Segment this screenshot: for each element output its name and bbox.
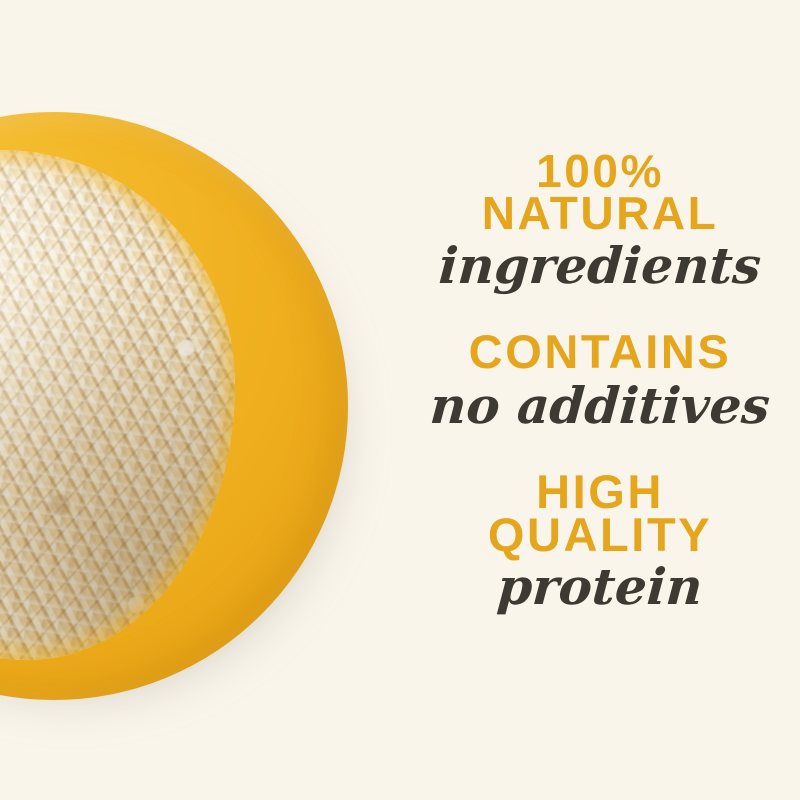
shredded-chicken-pile <box>0 150 235 660</box>
claim-natural-script: ingredients <box>398 239 800 292</box>
claim-protein-cap-line-2: QUALITY <box>400 513 800 556</box>
product-benefits-graphic: 100% NATURAL ingredients CONTAINS no add… <box>0 0 800 800</box>
claim-additives-script: no additives <box>398 379 800 432</box>
food-photo-area <box>0 0 420 800</box>
claim-protein-cap-line-1: HIGH <box>400 470 800 513</box>
chicken-shading <box>0 150 235 660</box>
claim-natural: 100% NATURAL ingredients <box>400 150 800 292</box>
claim-protein: HIGH QUALITY protein <box>400 470 800 613</box>
claim-protein-script: protein <box>398 560 800 613</box>
claim-additives: CONTAINS no additives <box>400 330 800 432</box>
claim-natural-cap-line-1: 100% <box>400 150 800 192</box>
claim-natural-cap-line-2: NATURAL <box>400 192 800 234</box>
claim-additives-cap-line-1: CONTAINS <box>400 330 800 373</box>
claims-column: 100% NATURAL ingredients CONTAINS no add… <box>400 0 800 800</box>
